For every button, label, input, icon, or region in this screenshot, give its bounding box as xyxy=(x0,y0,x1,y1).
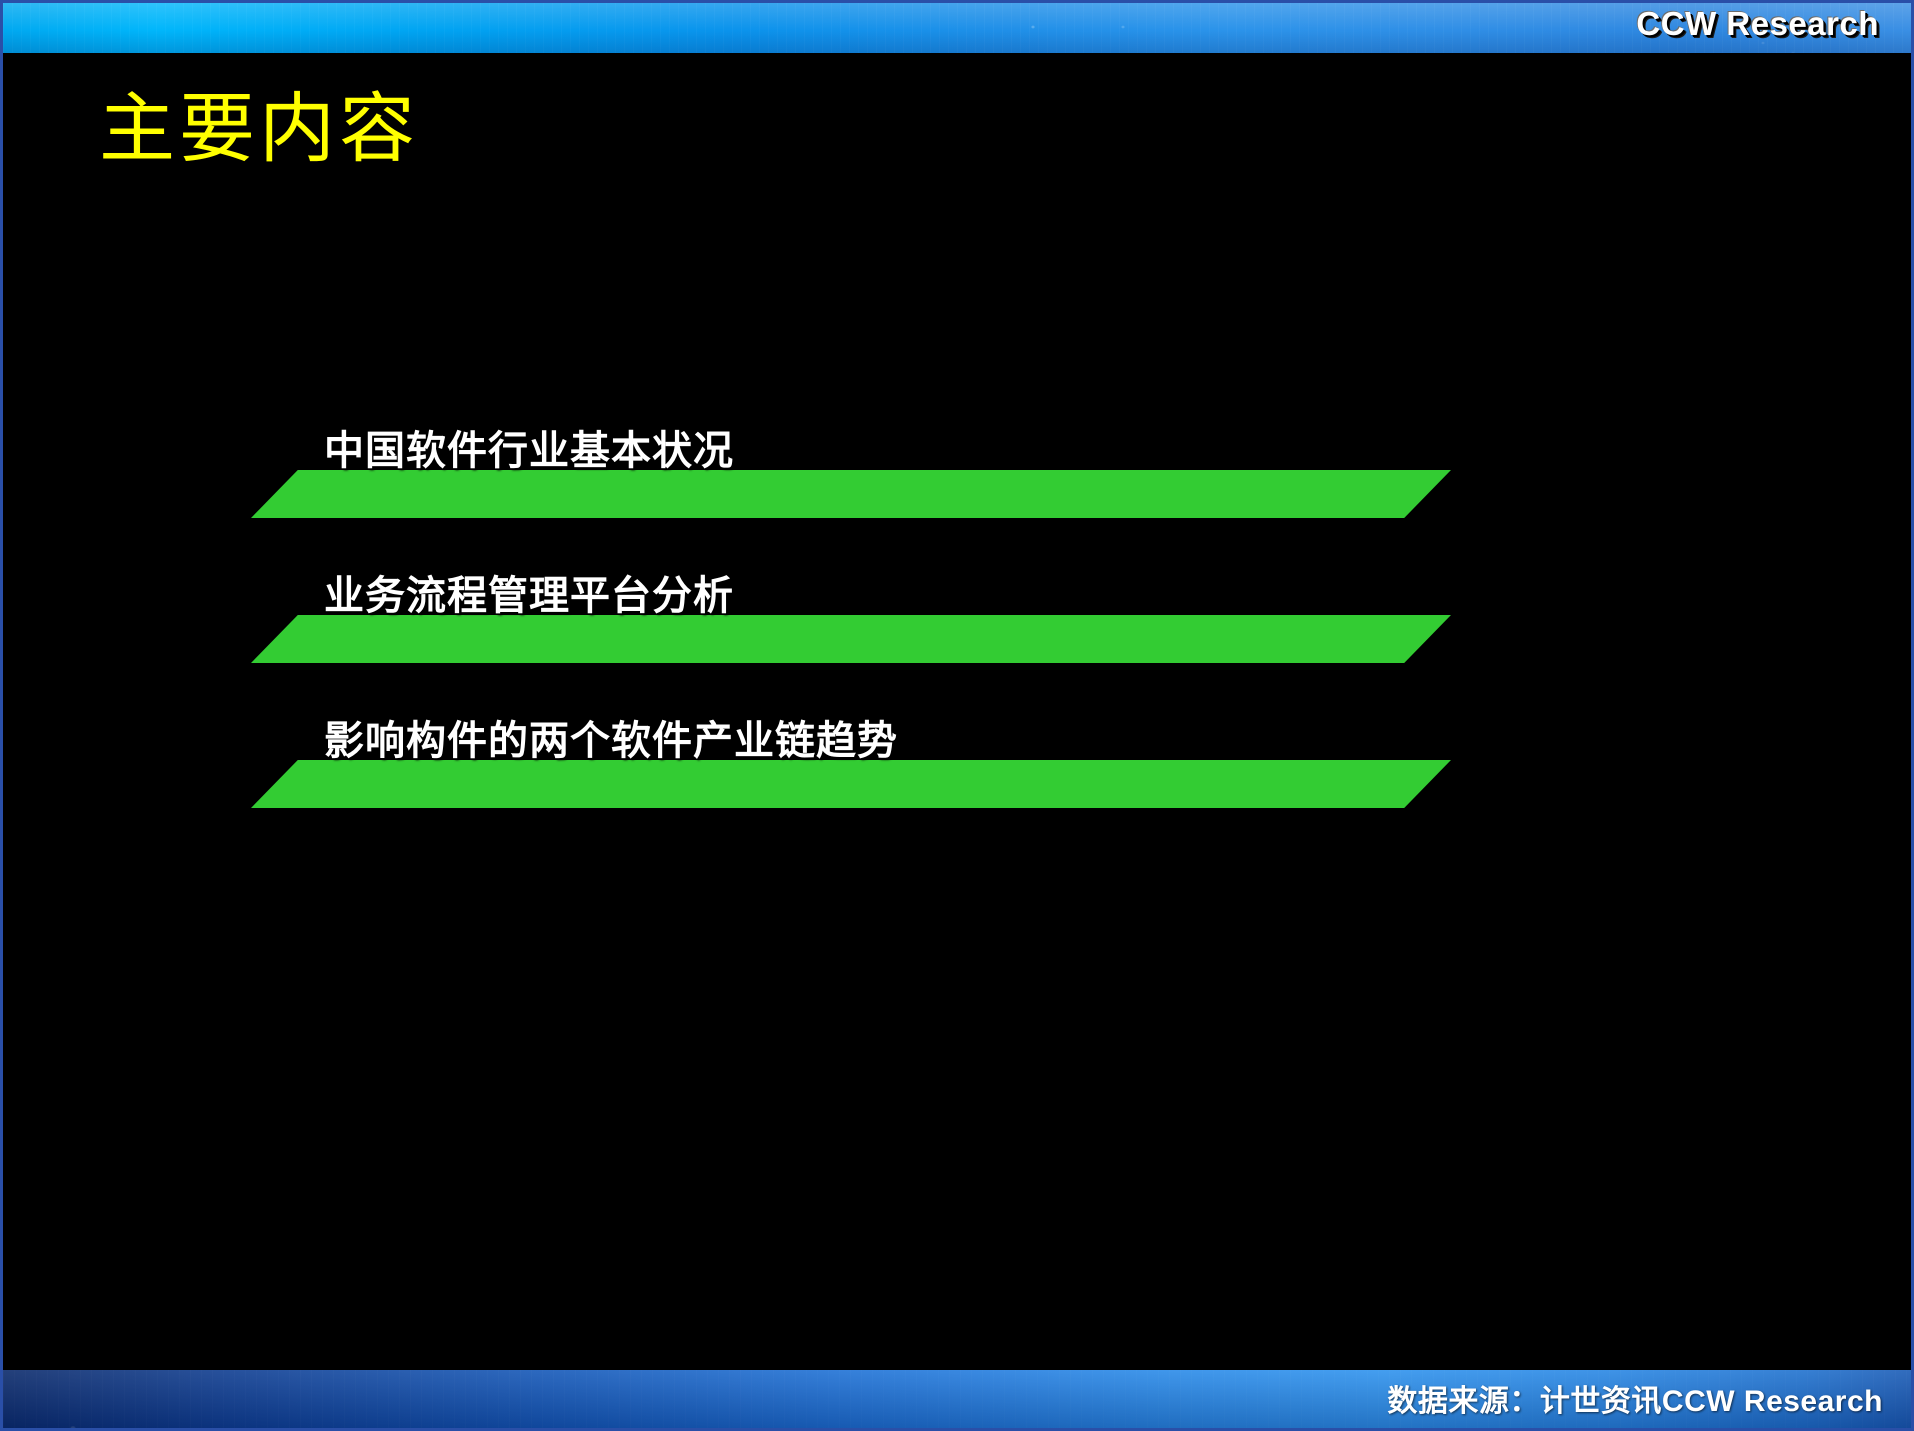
presentation-slide: CCW Research 主要内容 中国软件行业基本状况 业务流程管理平台分析 … xyxy=(0,0,1914,1431)
agenda-item-label: 影响构件的两个软件产业链趋势 xyxy=(324,708,898,766)
agenda-item-3[interactable]: 影响构件的两个软件产业链趋势 xyxy=(251,653,1451,808)
agenda-item-label: 业务流程管理平台分析 xyxy=(324,563,734,621)
agenda-item-label: 中国软件行业基本状况 xyxy=(324,418,734,476)
agenda-item-1[interactable]: 中国软件行业基本状况 xyxy=(251,363,1451,518)
slide-footer-band: 数据来源：计世资讯CCW Research xyxy=(3,1370,1914,1428)
agenda-banner-list: 中国软件行业基本状况 业务流程管理平台分析 影响构件的两个软件产业链趋势 xyxy=(3,3,1914,1431)
footer-source-text: 数据来源：计世资讯CCW Research xyxy=(1387,1376,1883,1420)
agenda-item-green-bar xyxy=(251,760,1451,808)
agenda-item-2[interactable]: 业务流程管理平台分析 xyxy=(251,508,1451,663)
